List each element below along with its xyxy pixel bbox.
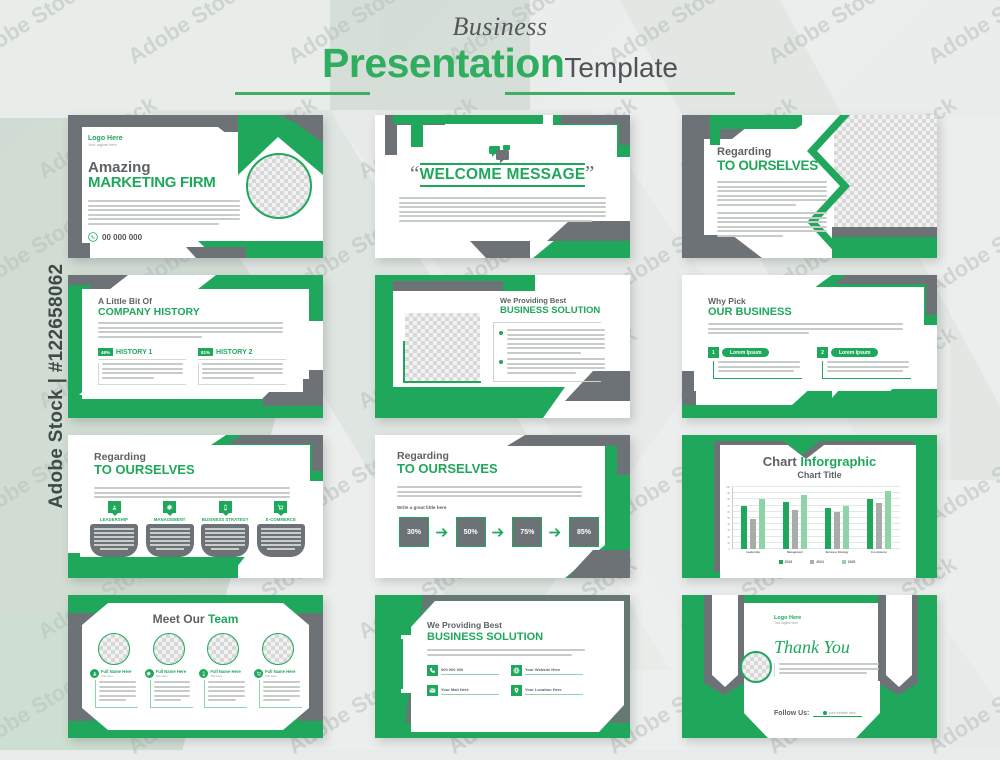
team-member-list: Full Name HereTitle HereFull Name HereTi… xyxy=(90,633,302,708)
team-title-grey: Meet Our xyxy=(153,612,205,626)
chart-bar-group xyxy=(867,487,891,549)
chart-bar xyxy=(741,506,747,549)
process-step-list: 30%50%75%85% xyxy=(399,517,599,547)
chart-bar-group xyxy=(783,487,807,549)
chart-x-tick-label: E-commerce xyxy=(858,551,900,554)
process-step[interactable]: 75% xyxy=(512,517,542,547)
chart-x-tick-label: Management xyxy=(774,551,816,554)
chart-y-tick-label: 20 xyxy=(727,536,730,539)
team-member[interactable]: Full Name HereTitle Here xyxy=(199,633,247,708)
history-item-1[interactable]: 48% HISTORY 1 xyxy=(98,348,186,385)
header-script-word: Business xyxy=(0,12,1000,42)
legend-swatch xyxy=(842,560,846,564)
body-copy xyxy=(98,322,283,340)
member-role: Title Here xyxy=(156,674,187,678)
chart-y-tick-label: 60 xyxy=(727,511,730,514)
history-label: HISTORY 1 xyxy=(116,349,152,356)
contact-item[interactable]: Your Website Here xyxy=(511,665,583,676)
website-label: your website here xyxy=(829,711,856,715)
body-copy xyxy=(94,487,290,501)
phone-icon xyxy=(429,667,436,674)
member-body xyxy=(259,680,302,708)
contact-value: Your Location Here xyxy=(525,687,583,695)
avatar xyxy=(262,633,294,665)
slide-title-line2: TO OURSELVES xyxy=(397,462,498,477)
body-copy-1 xyxy=(717,181,827,209)
slide-welcome[interactable]: “ ” WELCOME MESSAGE xyxy=(375,115,630,258)
chart-title-word2: Inforgraphic xyxy=(800,454,876,469)
chart-x-tick-labels: LeadershipManagementBusiness StrategyE-c… xyxy=(732,551,900,554)
slide-title[interactable]: Logo Here Your tagline here Amazing MARK… xyxy=(68,115,323,258)
thankyou-title: Thank You xyxy=(774,637,850,658)
pillar-item[interactable]: LEADERSHIP xyxy=(90,501,138,557)
user-badge-icon xyxy=(111,504,118,511)
bullet-dot-icon xyxy=(499,331,503,335)
follow-us-row[interactable]: Follow Us: your website here xyxy=(774,710,862,717)
mobile-icon xyxy=(222,504,229,511)
contact-icon-badge xyxy=(511,685,522,696)
chart-x-tick-label: Business Strategy xyxy=(816,551,858,554)
history-percent: 48% xyxy=(98,348,113,356)
slide-grid: Logo Here Your tagline here Amazing MARK… xyxy=(0,0,1000,750)
step-arrow xyxy=(549,526,562,539)
chart-bar-group xyxy=(741,487,765,549)
feature-body xyxy=(713,361,802,379)
chart-y-axis xyxy=(732,487,733,549)
chart-bar xyxy=(792,510,798,549)
slide-title-line1: A Little Bit Of xyxy=(98,297,200,306)
bullet-item-1 xyxy=(499,329,605,357)
tagline-label: Your tagline here xyxy=(88,143,123,147)
chart-legend: 202320242025 xyxy=(722,560,912,564)
feature-number: 2 xyxy=(817,347,828,358)
body-copy xyxy=(708,323,903,337)
follow-us-label: Follow Us: xyxy=(774,710,809,717)
process-step[interactable]: 50% xyxy=(456,517,486,547)
member-role: Title Here xyxy=(210,674,241,678)
header-sub-word: Template xyxy=(564,52,678,83)
feature-item-1[interactable]: 1 Lorem Ipsum xyxy=(708,347,802,379)
team-member[interactable]: Full Name HereTitle Here xyxy=(254,633,302,708)
pillar-body xyxy=(201,524,249,557)
page-header: Business PresentationTemplate xyxy=(0,12,1000,87)
gear-icon xyxy=(146,671,152,677)
slide-title-line2: TO OURSELVES xyxy=(94,463,195,478)
history-item-2[interactable]: 81% HISTORY 2 xyxy=(198,348,286,385)
legend-swatch xyxy=(810,560,814,564)
user-icon xyxy=(92,671,98,677)
avatar xyxy=(207,633,239,665)
body-copy xyxy=(399,197,606,225)
member-icon-badge xyxy=(254,669,263,678)
pillar-label: E-COMMERCE xyxy=(257,517,305,522)
arrow-right-icon xyxy=(436,526,449,539)
contact-list: 000 000 000Your Website HereYour Mail He… xyxy=(427,665,587,696)
slide-title-line2: BUSINESS SOLUTION xyxy=(500,306,600,317)
location-pin-icon xyxy=(513,687,520,694)
feature-number: 1 xyxy=(708,347,719,358)
history-label: HISTORY 2 xyxy=(216,349,252,356)
slide-title-line1: Regarding xyxy=(717,147,818,159)
contact-value: 000 000 000 xyxy=(441,667,499,675)
whatsapp-icon xyxy=(88,232,98,242)
pillar-label: BUSINESS STRATEGY xyxy=(201,517,249,522)
mobile-icon xyxy=(201,671,207,677)
chart-y-tick-label: 50 xyxy=(727,517,730,520)
chart-y-tick-label: 10 xyxy=(727,542,730,545)
slide-title-line2: OUR BUSINESS xyxy=(708,306,792,319)
pillar-label: MANAGEMENT xyxy=(146,517,194,522)
chart-y-tick-label: 40 xyxy=(727,523,730,526)
stock-credit-label: Adobe Stock | #122658062 xyxy=(46,221,68,551)
arrow-right-icon xyxy=(549,526,562,539)
chart-bar xyxy=(876,503,882,550)
chart-subtitle: Chart Title xyxy=(712,470,927,480)
cart-icon xyxy=(277,504,284,511)
slide-title-line1: We Providing Best xyxy=(427,621,543,631)
step-arrow xyxy=(436,526,449,539)
chart-bar xyxy=(825,508,831,549)
chart-bar xyxy=(843,506,849,549)
member-body xyxy=(204,680,247,708)
slide-title-line2: MARKETING FIRM xyxy=(88,175,215,192)
slide-title-line2: COMPANY HISTORY xyxy=(98,306,200,318)
phone-row[interactable]: 00 000 000 xyxy=(88,232,142,242)
slide-title: Meet Our Team xyxy=(68,612,323,626)
cart-icon xyxy=(256,671,262,677)
feature-label: Lorem Ipsum xyxy=(722,348,769,357)
chart-legend-item[interactable]: 2025 xyxy=(842,560,856,564)
slide-regarding-1[interactable]: Regarding TO OURSELVES xyxy=(682,115,937,258)
slide-title-line1: Amazing xyxy=(88,160,215,175)
process-step[interactable]: 30% xyxy=(399,517,429,547)
globe-icon xyxy=(513,667,520,674)
slide-team[interactable]: Meet Our Team Full Name HereTitle HereFu… xyxy=(68,595,323,738)
process-subtitle: Write a great little here xyxy=(397,505,446,510)
pillar-icon-badge xyxy=(163,501,176,513)
slide-why-pick[interactable]: Why Pick OUR BUSINESS 1 Lorem Ipsum 2 Lo… xyxy=(682,275,937,418)
social-dot-icon xyxy=(823,711,827,715)
slide-title-line2: BUSINESS SOLUTION xyxy=(427,631,543,644)
history-percent: 81% xyxy=(198,348,213,356)
pillar-item[interactable]: MANAGEMENT xyxy=(146,501,194,557)
bullet-item-2 xyxy=(499,358,605,376)
header-title: PresentationTemplate xyxy=(0,40,1000,87)
chart-bar xyxy=(750,519,756,549)
slide-business-solution[interactable]: We Providing Best BUSINESS SOLUTION xyxy=(375,275,630,418)
chart-bar-group xyxy=(825,487,849,549)
gear-icon xyxy=(166,504,173,511)
member-icon-badge xyxy=(199,669,208,678)
chart-y-tick-label: 80 xyxy=(727,498,730,501)
thankyou-body xyxy=(774,663,879,677)
chart-bar xyxy=(834,512,840,549)
pillar-icon-badge xyxy=(108,501,121,513)
bullet-dot-icon xyxy=(499,360,503,364)
chart-y-tick-label: 0 xyxy=(729,548,730,551)
phone-number: 00 000 000 xyxy=(102,233,142,242)
chart-legend-item[interactable]: 2024 xyxy=(810,560,824,564)
pillar-list: LEADERSHIPMANAGEMENTBUSINESS STRATEGYE-C… xyxy=(90,501,305,557)
avatar xyxy=(153,633,185,665)
chart-bar xyxy=(867,499,873,549)
member-icon-badge xyxy=(90,669,99,678)
legend-label: 2024 xyxy=(816,560,824,564)
slide-title: WELCOME MESSAGE xyxy=(375,166,630,184)
slide-history[interactable]: A Little Bit Of COMPANY HISTORY 48% HIST… xyxy=(68,275,323,418)
member-role: Title Here xyxy=(265,674,296,678)
slide-title-line2: TO OURSELVES xyxy=(717,159,818,174)
tagline-label: Your tagline here xyxy=(774,621,801,625)
member-body xyxy=(150,680,193,708)
header-main-word: Presentation xyxy=(322,40,564,86)
process-step[interactable]: 85% xyxy=(569,517,599,547)
slide-process[interactable]: Regarding TO OURSELVES Write a great lit… xyxy=(375,435,630,578)
legend-label: 2023 xyxy=(785,560,793,564)
contact-item[interactable]: Your Mail Here xyxy=(427,685,499,696)
step-arrow xyxy=(492,526,505,539)
pillar-icon-badge xyxy=(274,501,287,513)
chart-bar xyxy=(783,502,789,549)
member-body xyxy=(95,680,138,708)
contact-item[interactable]: Your Location Here xyxy=(511,685,583,696)
chart-plot-area: 0102030405060708090100 xyxy=(732,487,900,549)
pillar-body xyxy=(257,524,305,557)
contact-icon-badge xyxy=(427,665,438,676)
feature-item-2[interactable]: 2 Lorem Ipsum xyxy=(817,347,911,379)
feature-label: Lorem Ipsum xyxy=(831,348,878,357)
contact-item[interactable]: 000 000 000 xyxy=(427,665,499,676)
chart-y-tick-label: 70 xyxy=(727,505,730,508)
member-role: Title Here xyxy=(101,674,132,678)
contact-value: Your Mail Here xyxy=(441,687,499,695)
pillar-item[interactable]: E-COMMERCE xyxy=(257,501,305,557)
mail-icon xyxy=(429,687,436,694)
legend-swatch xyxy=(779,560,783,564)
slide-title-line1: Why Pick xyxy=(708,297,792,306)
contact-value: Your Website Here xyxy=(525,667,583,675)
logo-label-accent: Logo Here xyxy=(88,135,123,142)
team-member[interactable]: Full Name HereTitle Here xyxy=(90,633,138,708)
team-title-green: Team xyxy=(208,612,238,626)
chart-y-tick-label: 30 xyxy=(727,529,730,532)
pillar-icon-badge xyxy=(219,501,232,513)
chart-bar xyxy=(801,495,807,549)
arrow-right-icon xyxy=(492,526,505,539)
feature-body xyxy=(822,361,911,379)
pillar-body xyxy=(146,524,194,557)
slide-contact[interactable]: We Providing Best BUSINESS SOLUTION 000 … xyxy=(375,595,630,738)
team-member[interactable]: Full Name HereTitle Here xyxy=(145,633,193,708)
body-copy xyxy=(427,649,585,658)
chart-y-tick-label: 90 xyxy=(727,492,730,495)
chart-title-word1: Chart xyxy=(763,454,797,469)
body-copy xyxy=(397,486,582,500)
avatar xyxy=(98,633,130,665)
chart-x-tick-label: Leadership xyxy=(732,551,774,554)
body-copy-2 xyxy=(717,212,827,240)
member-icon-badge xyxy=(145,669,154,678)
body-copy xyxy=(88,200,240,228)
pillar-body xyxy=(90,524,138,557)
history-body xyxy=(198,363,286,385)
slide-regarding-2[interactable]: Regarding TO OURSELVES LEADERSHIPMANAGEM… xyxy=(68,435,323,578)
contact-icon-badge xyxy=(511,665,522,676)
slide-thankyou[interactable]: Logo Here Your tagline here Thank You Fo… xyxy=(682,595,937,738)
chart-bar xyxy=(885,491,891,549)
legend-label: 2025 xyxy=(848,560,856,564)
chart-legend-item[interactable]: 2023 xyxy=(779,560,793,564)
pillar-item[interactable]: BUSINESS STRATEGY xyxy=(201,501,249,557)
history-body xyxy=(98,363,186,385)
chart-y-tick-label: 100 xyxy=(726,486,730,489)
contact-icon-badge xyxy=(427,685,438,696)
slide-chart[interactable]: Chart Inforgraphic Chart Title 010203040… xyxy=(682,435,937,578)
chart-bar xyxy=(759,499,765,549)
pillar-label: LEADERSHIP xyxy=(90,517,138,522)
